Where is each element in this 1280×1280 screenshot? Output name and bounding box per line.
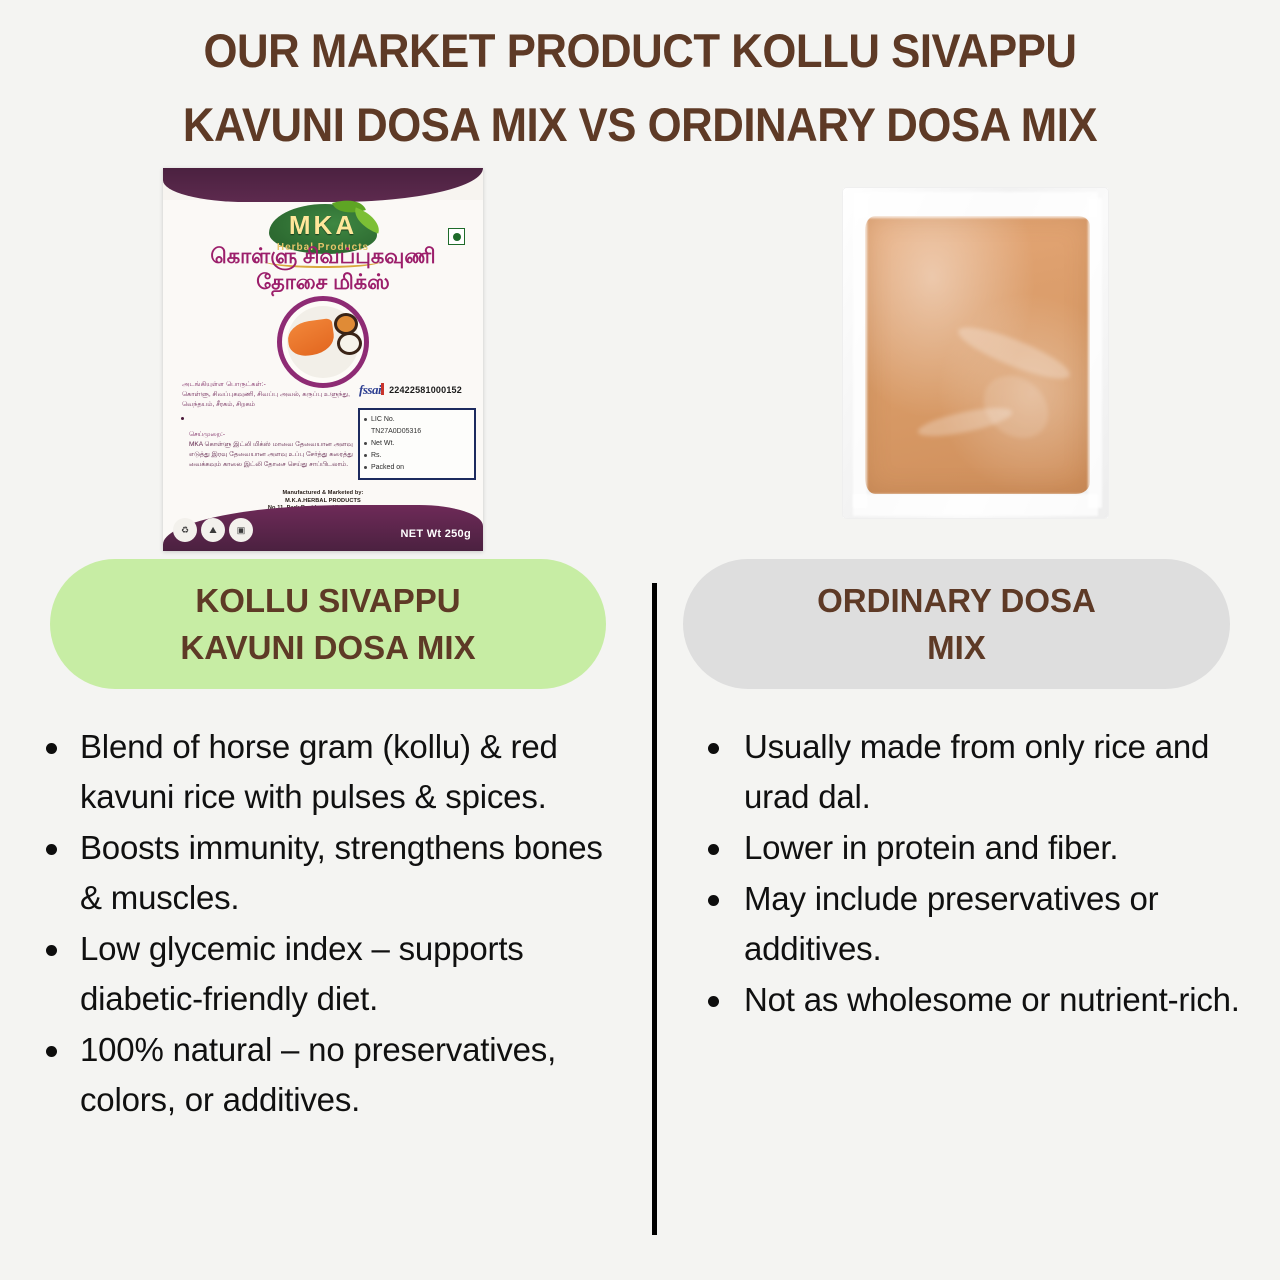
list-item: 100% natural – no preservatives, colors,… [24,1025,624,1125]
left-pill-line-1: KOLLU SIVAPPU [180,577,475,624]
kollu-sivappu-package-image: MKA Herbal Products கொள்ளு சிவப்புகவுணி … [163,168,483,551]
table-row: Net Wt. [364,439,470,449]
right-bullet-list: Usually made from only rice and urad dal… [686,722,1266,1025]
list-item: Blend of horse gram (kollu) & red kavuni… [24,722,624,822]
veg-dot [453,233,461,241]
title-line-1: OUR MARKET PRODUCT KOLLU SIVAPPU [45,14,1235,88]
list-item: Low glycemic index – supports diabetic-f… [24,924,624,1024]
fssai-cert-icon: ▣ [229,518,253,542]
coconut-chutney-bowl-icon [337,332,362,355]
list-item: Not as wholesome or nutrient-rich. [686,975,1266,1025]
table-row: Rs. [364,451,470,461]
lic-no-value: TN27A0D05316 [371,427,421,437]
bullet-dot [364,466,367,469]
mfg-line: Manufactured & Marketed by: [163,490,483,498]
column-divider [652,583,657,1235]
left-bullet-list: Blend of horse gram (kollu) & red kavuni… [24,722,624,1125]
list-item: Usually made from only rice and urad dal… [686,722,1266,822]
package-top-purple-band [163,168,483,202]
table-row: LIC No. [364,415,470,425]
dosa-photo-circle [277,296,369,388]
bullet-dot [364,454,367,457]
ordinary-dosa-mix-package-image [843,188,1108,518]
usage-text: MKA கொள்ளு இட்லி மிக்ஸ் மாவை தேவையான அளவ… [189,440,359,470]
title-line-2: KAVUNI DOSA MIX VS ORDINARY DOSA MIX [45,88,1235,162]
packed-on-label: Packed on [371,463,404,473]
left-product-label-pill: KOLLU SIVAPPU KAVUNI DOSA MIX [50,559,606,689]
fssai-logo-icon: fssai [359,382,384,398]
brand-name: MKA [248,208,398,242]
recycle-icon: ♻ [173,518,197,542]
vegetarian-mark-icon [448,228,465,245]
list-item: May include preservatives or additives. [686,874,1266,974]
license-details-box: LIC No. TN27A0D05316 Net Wt. Rs. Packed … [358,408,476,480]
package-tamil-title-line-2: தோசை மிக்ஸ் [163,270,483,296]
film-edge [853,192,1098,218]
left-pill-line-2: KAVUNI DOSA MIX [180,624,475,671]
left-benefits-column: Blend of horse gram (kollu) & red kavuni… [24,722,624,1126]
right-pill-line-2: MIX [817,624,1096,671]
rs-label: Rs. [371,451,382,461]
usage-label: செய்முறை:- [189,430,225,439]
ingredients-label: அடங்கியுள்ள பொருட்கள்:- [182,380,266,389]
list-item: Lower in protein and fiber. [686,823,1266,873]
page-title: OUR MARKET PRODUCT KOLLU SIVAPPU KAVUNI … [0,14,1280,162]
certification-icons: ♻ ⛰ ▣ [173,518,253,542]
table-row: TN27A0D05316 [364,427,470,437]
dispose-in-bin-icon: ⛰ [201,518,225,542]
product-images-row: MKA Herbal Products கொள்ளு சிவப்புகவுணி … [0,166,1280,556]
list-item: Boosts immunity, strengthens bones & mus… [24,823,624,923]
film-edge [1088,198,1102,508]
ingredients-text: கொள்ளு, சிவப்புகவுணி, சிவப்பு அவல், கருப… [182,390,360,409]
package-tamil-title-line-1: கொள்ளு சிவப்புகவுணி [163,244,483,270]
film-edge [853,494,1098,516]
table-row: Packed on [364,463,470,473]
lic-no-label: LIC No. [371,415,395,425]
net-wt-label: Net Wt. [371,439,394,449]
film-edge [853,198,867,508]
mfg-line: M.K.A.HERBAL PRODUCTS [163,498,483,506]
usage-bullet-dot [181,417,184,420]
fssai-license-number: 22422581000152 [389,385,462,395]
right-product-label-pill: ORDINARY DOSA MIX [683,559,1230,689]
fssai-row: fssai 22422581000152 [359,382,462,398]
right-pill-line-1: ORDINARY DOSA [817,577,1096,624]
package-tamil-title: கொள்ளு சிவப்புகவுணி தோசை மிக்ஸ் [163,244,483,296]
bullet-dot [364,442,367,445]
right-drawbacks-column: Usually made from only rice and urad dal… [686,722,1266,1026]
bullet-dot [364,418,367,421]
dosa-mix-powder [865,216,1090,494]
net-weight-label: NET Wt 250g [400,528,471,540]
